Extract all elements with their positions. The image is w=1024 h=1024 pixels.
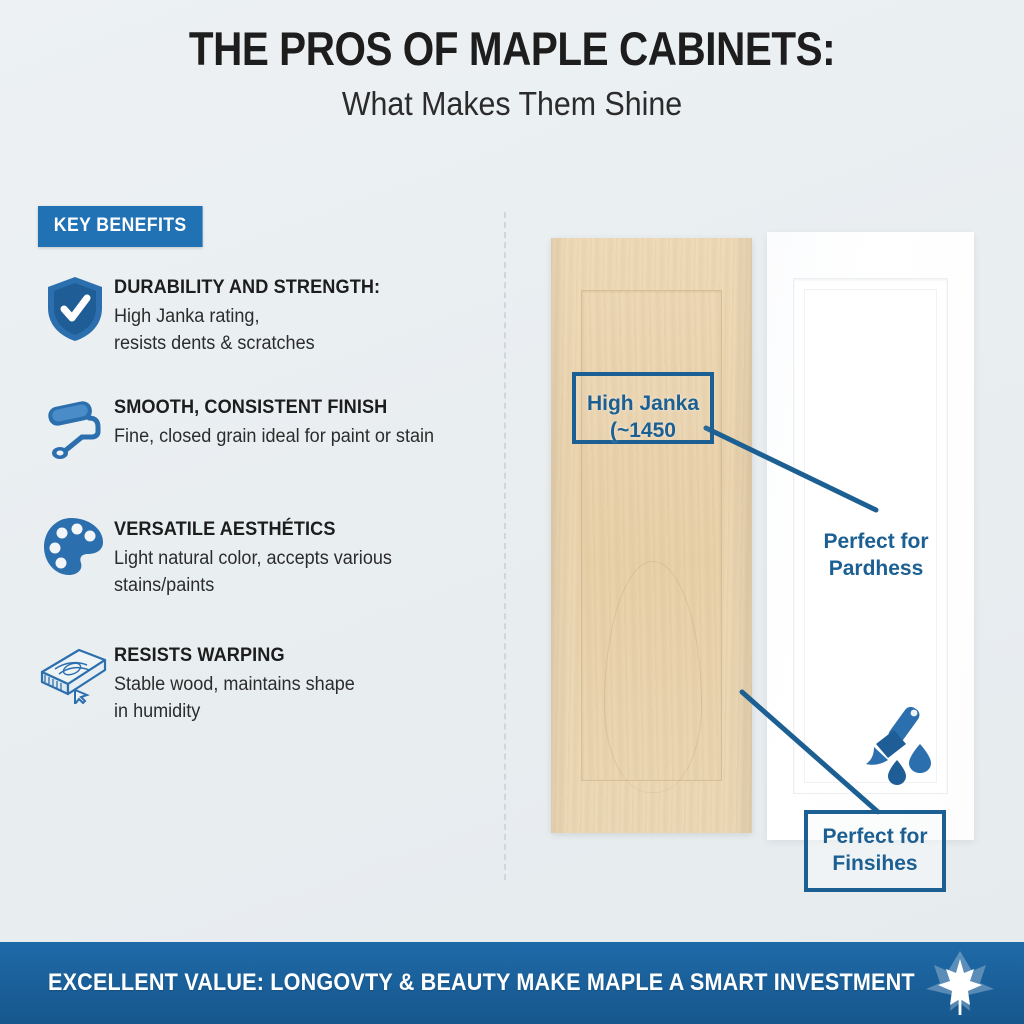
banner-text: EXCELLENT VALUE: LONGOVTY & BEAUTY MAKE … <box>48 969 915 997</box>
maple-cabinet-door <box>551 238 752 833</box>
callout-perfect-for-finishes: Perfect for Finsihes <box>804 810 946 892</box>
callout-high-janka: High Janka (~1450 <box>572 372 714 444</box>
bottom-banner: EXCELLENT VALUE: LONGOVTY & BEAUTY MAKE … <box>0 942 1024 1024</box>
callout-label: High Janka (~1450 <box>587 391 699 445</box>
wood-grain-figure <box>604 561 702 793</box>
maple-leaf-icon <box>924 949 996 1021</box>
infographic-canvas: THE PROS OF MAPLE CABINETS: What Makes T… <box>0 0 1024 1024</box>
callout-label: Perfect for Pardhess <box>823 529 928 583</box>
paintbrush-with-drops-icon <box>852 700 944 788</box>
callout-perfect-for-hardness: Perfect for Pardhess <box>813 524 939 588</box>
maple-door-panel <box>581 290 722 781</box>
callout-label: Perfect for Finsihes <box>822 824 927 878</box>
